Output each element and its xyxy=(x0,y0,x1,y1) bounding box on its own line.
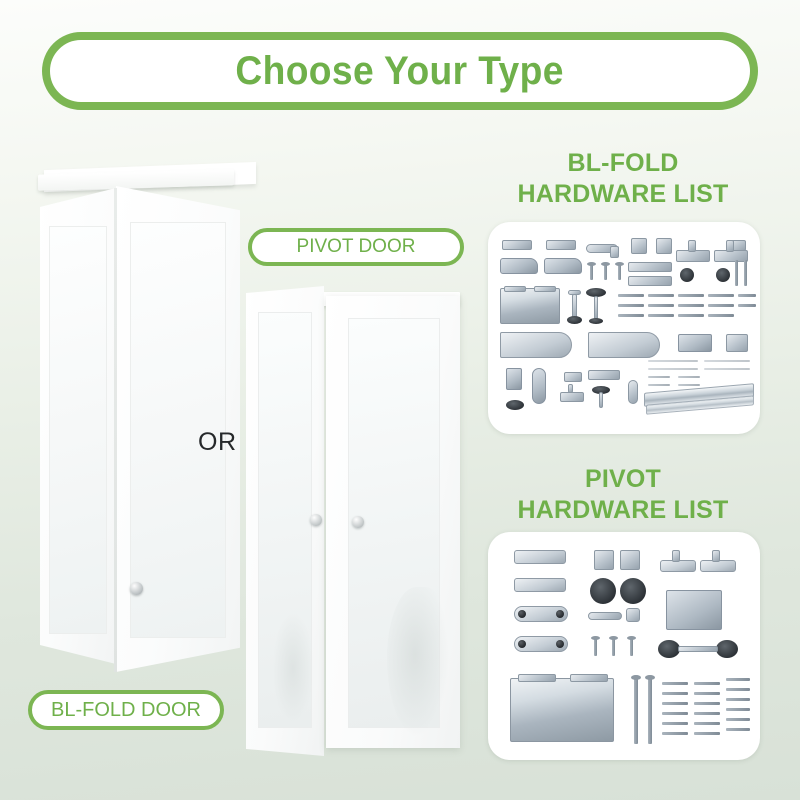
bifold-hardware-parts-photo xyxy=(488,222,760,434)
pivot-frost-texture-b xyxy=(387,587,449,737)
bifold-door-panel-left xyxy=(40,188,116,664)
bifold-hinge-seam xyxy=(114,188,117,672)
pivot-door-illustration xyxy=(246,284,460,760)
badge-pivot-door: PIVOT DOOR xyxy=(248,228,464,266)
pivot-hardware-heading: PIVOT HARDWARE LIST xyxy=(478,464,768,525)
pivot-door-knob-left-icon xyxy=(310,514,322,526)
bifold-glass-left xyxy=(49,226,107,634)
bifold-hardware-card xyxy=(488,222,760,434)
page-title: Choose Your Type xyxy=(236,51,564,91)
badge-bifold-door-label: BL-FOLD DOOR xyxy=(51,699,201,722)
infographic-canvas: Choose Your Type BL-FOLD DOOR OR PIVOT D… xyxy=(0,0,800,800)
bifold-door-illustration xyxy=(26,166,240,686)
pivot-door-knob-right-icon xyxy=(352,516,364,528)
or-separator: OR xyxy=(198,428,237,457)
pivot-hardware-heading-line2: HARDWARE LIST xyxy=(478,495,768,526)
title-banner: Choose Your Type xyxy=(42,32,758,110)
bifold-door-knob-icon xyxy=(130,582,143,595)
bifold-hardware-heading-line2: HARDWARE LIST xyxy=(478,179,768,210)
pivot-door-panel-flat xyxy=(326,296,460,748)
pivot-hardware-parts-photo xyxy=(488,532,760,760)
bifold-hardware-heading-line1: BL-FOLD xyxy=(478,148,768,179)
pivot-glass-open xyxy=(258,312,312,728)
pivot-hardware-card xyxy=(488,532,760,760)
bifold-hardware-heading: BL-FOLD HARDWARE LIST xyxy=(478,148,768,209)
badge-pivot-door-label: PIVOT DOOR xyxy=(297,236,416,258)
pivot-hardware-heading-line1: PIVOT xyxy=(478,464,768,495)
badge-bifold-door: BL-FOLD DOOR xyxy=(28,690,224,730)
pivot-frost-texture-a xyxy=(273,613,313,723)
